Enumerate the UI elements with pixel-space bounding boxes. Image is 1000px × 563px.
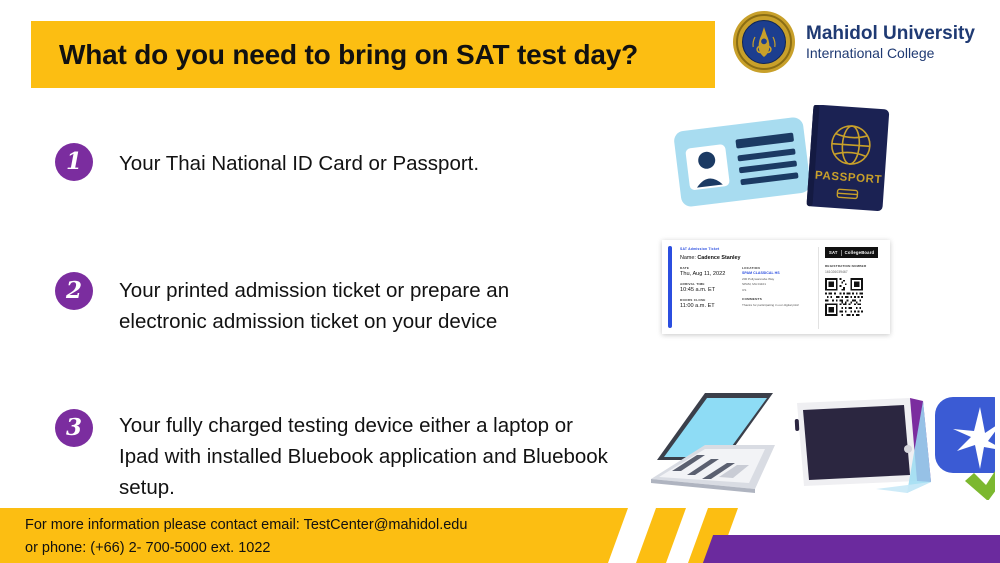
id-card-icon [673, 116, 811, 207]
laptop-icon [651, 393, 775, 493]
ticket-comments-label: COMMENTS [742, 297, 818, 301]
qr-code-icon [825, 278, 863, 316]
ticket-kicker: SAT Admission Ticket [680, 247, 742, 251]
item-number-badge: 2 [55, 272, 93, 310]
ticket-right-column: SAT CollegeBoard REGISTRATION NUMBER 161… [818, 247, 884, 329]
item-line: Your Thai National ID Card or Passport. [119, 148, 479, 179]
item-number-3: 3 [66, 416, 82, 439]
logo-university-name: Mahidol University [806, 23, 975, 45]
item-text-1: Your Thai National ID Card or Passport. [119, 143, 479, 179]
slide-canvas: What do you need to bring on SAT test da… [0, 0, 1000, 563]
item-number-badge: 3 [55, 409, 93, 447]
seal-field [742, 20, 786, 64]
list-item: 2 Your printed admission ticket or prepa… [55, 272, 509, 337]
footer-line-1: For more information please contact emai… [25, 514, 467, 537]
item-line: Your fully charged testing device either… [119, 410, 608, 441]
ticket-date-label: DATE [680, 266, 742, 270]
ticket-comments-value: Thanks for participating in our digital … [742, 303, 818, 307]
ticket-location-address-3: US [742, 288, 818, 292]
logo-wordmark: Mahidol University International College [806, 23, 975, 62]
item-line: Your printed admission ticket or prepare… [119, 275, 509, 306]
ticket-doors-label: DOORS CLOSE [680, 298, 742, 302]
bluebook-app-icon [935, 397, 995, 473]
ticket-location-label: LOCATION [742, 266, 818, 270]
sat-admission-ticket-card: SAT Admission Ticket Name: Cadence Stanl… [662, 240, 890, 334]
id-and-passport-icon: PASSPORT [655, 105, 895, 215]
page-title: What do you need to bring on SAT test da… [59, 39, 638, 71]
item-line: Ipad with installed Bluebook application… [119, 441, 608, 472]
ticket-name-label: Name: [680, 255, 696, 261]
footer-purple-fill [760, 535, 1000, 563]
ticket-registration-value: 161026039467 [825, 270, 848, 274]
ticket-date-value: Thu, Aug 11, 2022 [680, 271, 742, 277]
mahidol-seal-icon [733, 11, 795, 73]
ticket-body: SAT Admission Ticket Name: Cadence Stanl… [672, 240, 890, 334]
item-number-1: 1 [66, 150, 82, 173]
university-logo: Mahidol University International College [733, 11, 975, 73]
devices-illustration [645, 385, 995, 505]
sat-brand-label: SAT [829, 250, 838, 255]
admission-ticket-illustration: SAT Admission Ticket Name: Cadence Stanl… [662, 240, 890, 334]
ticket-location-address-1: 200 Pollywannabe Way [742, 277, 818, 281]
devices-icon-group [645, 385, 995, 500]
footer-line-2: or phone: (+66) 2- 700-5000 ext. 1022 [25, 537, 467, 560]
ticket-location-address-2: SPAM, MA 01101 [742, 282, 818, 286]
logo-divider [841, 250, 842, 256]
collegeboard-logo: SAT CollegeBoard [825, 247, 878, 258]
item-text-2: Your printed admission ticket or prepare… [119, 272, 509, 337]
item-number-2: 2 [66, 279, 82, 302]
ticket-name-value: Cadence Stanley [697, 255, 740, 261]
ticket-middle-column: LOCATION SPAM CLASSICAL HS 200 Pollywann… [742, 247, 818, 329]
item-number-badge: 1 [55, 143, 93, 181]
ticket-location-name: SPAM CLASSICAL HS [742, 271, 818, 275]
logo-college-name: International College [806, 45, 975, 61]
ticket-arrival-label: ARRIVAL TIME [680, 282, 742, 286]
ticket-left-column: SAT Admission Ticket Name: Cadence Stanl… [680, 247, 742, 329]
list-item: 3 Your fully charged testing device eith… [55, 409, 608, 503]
collegeboard-brand-label: CollegeBoard [845, 250, 875, 255]
passport-icon: PASSPORT [806, 105, 889, 211]
seal-emblem-icon [747, 25, 781, 61]
item-line: electronic admission ticket on your devi… [119, 306, 509, 337]
ticket-registration-label: REGISTRATION NUMBER [825, 264, 866, 268]
list-item: 1 Your Thai National ID Card or Passport… [55, 143, 479, 181]
id-card-passport-illustration: PASSPORT [655, 105, 895, 220]
ticket-name-row: Name: Cadence Stanley [680, 255, 742, 261]
ticket-arrival-value: 10:45 a.m. ET [680, 287, 742, 293]
item-text-3: Your fully charged testing device either… [119, 409, 608, 503]
footer-contact-text: For more information please contact emai… [25, 514, 467, 561]
ticket-doors-value: 11:00 a.m. ET [680, 303, 742, 309]
ipad-icon [795, 398, 931, 493]
item-line: setup. [119, 472, 608, 503]
title-banner: What do you need to bring on SAT test da… [31, 21, 715, 88]
